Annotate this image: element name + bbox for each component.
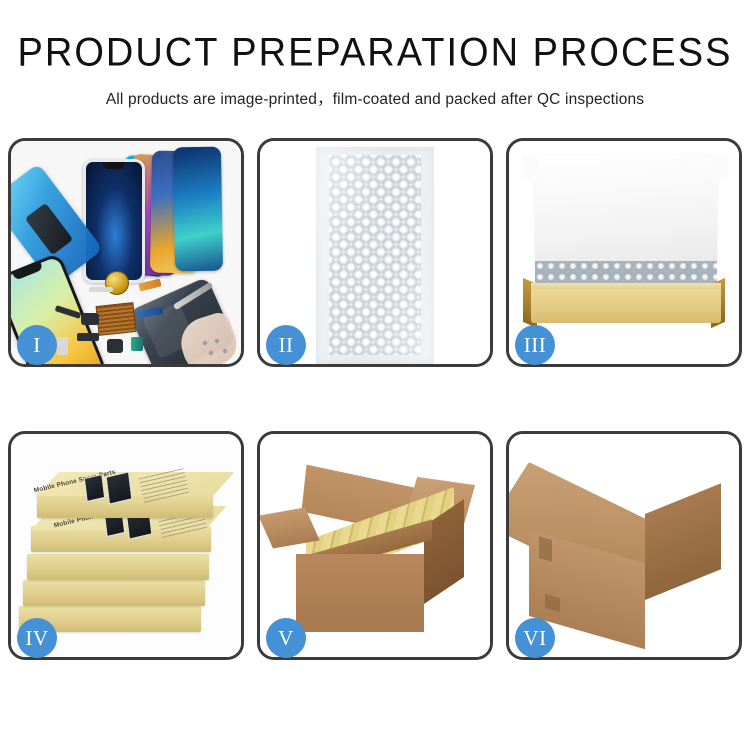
process-step-5: V [257, 431, 493, 660]
page-title: PRODUCT PREPARATION PROCESS [0, 33, 750, 75]
inner-box-lid [535, 155, 717, 275]
spare-part-flex-cable [138, 278, 161, 291]
process-step-3: III [506, 138, 742, 367]
step-badge-5: V [266, 618, 306, 658]
bubble-wrap-sheen [329, 155, 421, 355]
step-badge-3: III [515, 325, 555, 365]
process-step-grid: I II III [8, 138, 742, 660]
kraft-box-screen-art-1b [106, 471, 133, 504]
spare-part-module [131, 337, 143, 351]
process-step-4: Mobile Phone Spare Parts Mobile Phone Sp… [8, 431, 244, 660]
spare-part-vibrator [107, 339, 123, 353]
kraft-box-layer-4 [23, 580, 205, 606]
page-subtitle: All products are image-printed，film-coat… [0, 87, 750, 109]
phone-front-display [83, 159, 145, 283]
spare-part-strip [89, 287, 113, 292]
process-step-2: II [257, 138, 493, 367]
step-badge-2: II [266, 325, 306, 365]
screws-group [201, 339, 231, 361]
spare-part-sim-tray [57, 337, 68, 355]
step-badge-6: VI [515, 618, 555, 658]
step-badge-4: IV [17, 618, 57, 658]
process-step-6: VI [506, 431, 742, 660]
spare-part-camera-flex [77, 333, 99, 341]
kraft-box-screen-art-1a [84, 474, 105, 502]
page-header: PRODUCT PREPARATION PROCESS All products… [0, 0, 750, 109]
inner-box-front [531, 289, 721, 323]
process-step-1: I [8, 138, 244, 367]
sealed-carton-tape-upper [539, 536, 552, 562]
kraft-box-layer-1: Mobile Phone Spare Parts [37, 492, 213, 518]
spare-part-bracket [81, 313, 99, 325]
kraft-box-stack: Mobile Phone Spare Parts Mobile Phone Sp… [17, 452, 235, 648]
carton-body-open [296, 554, 424, 632]
step-badge-1: I [17, 325, 57, 365]
connector-chip-grid [96, 302, 137, 336]
kraft-box-layer-2: Mobile Phone Spare Parts [31, 526, 211, 552]
phone-teal [173, 147, 223, 272]
kraft-box-layer-3 [27, 554, 209, 580]
